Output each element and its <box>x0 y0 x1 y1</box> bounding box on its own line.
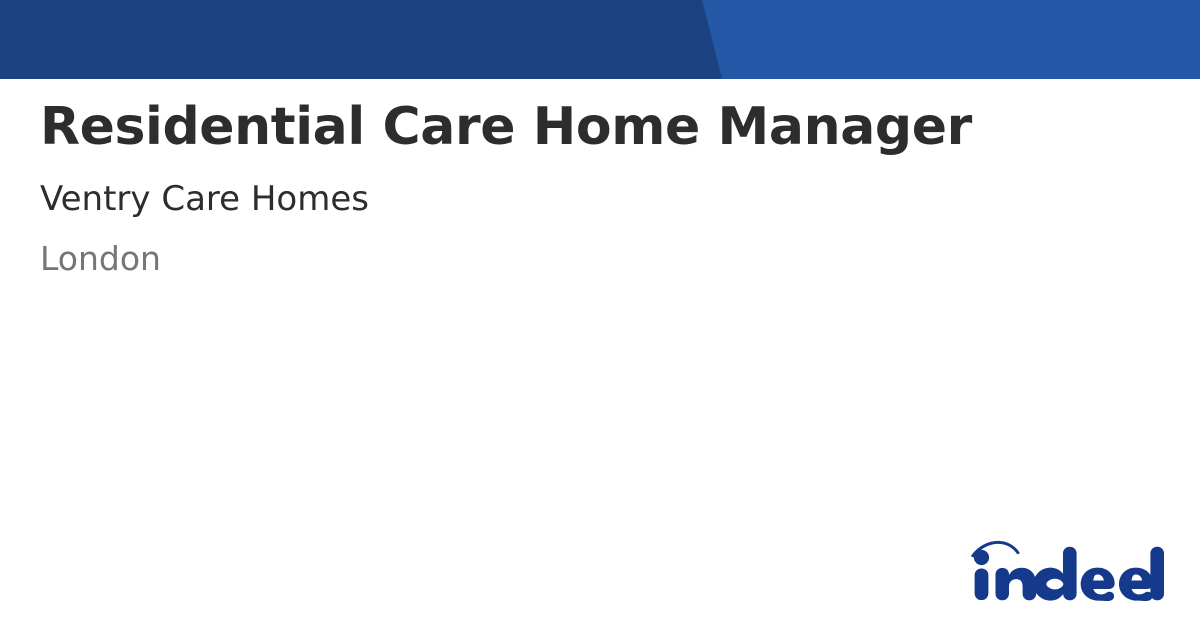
job-share-card: Residential Care Home Manager Ventry Car… <box>0 0 1200 630</box>
indeed-logo <box>968 540 1164 602</box>
header-banner-shapes <box>0 0 1200 79</box>
job-summary: Residential Care Home Manager Ventry Car… <box>40 96 1160 280</box>
indeed-letter-e-2 <box>1119 568 1153 601</box>
indeed-letter-d-2 <box>1150 547 1164 601</box>
indeed-logo-mark <box>968 540 1164 602</box>
indeed-letter-d-1 <box>1033 547 1076 601</box>
indeed-letter-i <box>975 569 989 601</box>
indeed-letter-e-1 <box>1081 568 1115 601</box>
indeed-letter-n <box>996 568 1037 601</box>
header-banner <box>0 0 1200 79</box>
company-name: Ventry Care Homes <box>40 178 1160 220</box>
page-title: Residential Care Home Manager <box>40 96 1160 158</box>
banner-left-panel <box>0 0 722 79</box>
indeed-i-dot-icon <box>974 550 989 565</box>
job-location: London <box>40 238 1160 280</box>
